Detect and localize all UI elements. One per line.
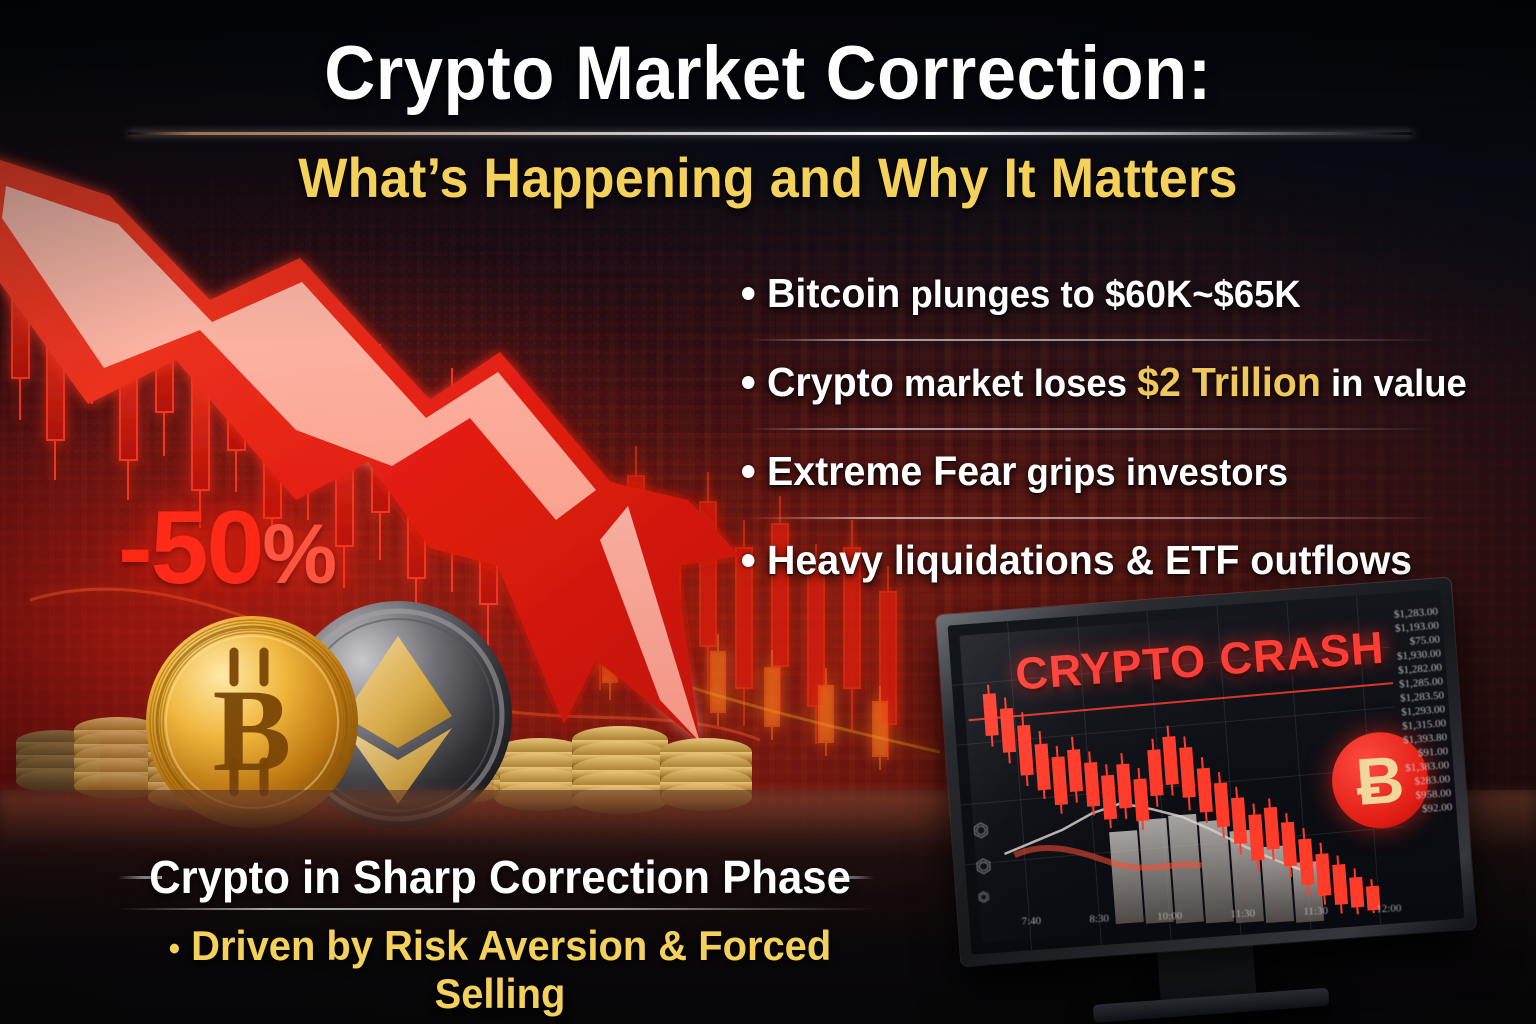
page-title: Crypto Market Correction: (54, 30, 1482, 117)
bullet-3-lead: Extreme Fear (767, 448, 1016, 494)
time-label: 12:00 (1376, 902, 1401, 915)
chart-tool-icon[interactable]: ⏣ (972, 819, 990, 842)
price-label: $1,282.00 (1398, 661, 1443, 676)
footer-headline: Crypto in Sharp Correction Phase (139, 850, 861, 904)
bullet-3-rest: grips investors (1016, 452, 1288, 494)
percent-value: 50 (151, 490, 263, 606)
title-divider (128, 132, 1413, 135)
price-label: $1,283.00 (1394, 606, 1439, 621)
bullet-row-3: Extreme Fear grips investors (742, 448, 1288, 495)
list-item: Bitcoin plunges to $60K~$65K (742, 250, 1442, 339)
price-label: $1,315.00 (1402, 717, 1447, 732)
trading-monitor: CRYPTO CRASH Ƀ ⏣ ⏣ ⏣ $1,283.00$1,193.00$… (936, 578, 1476, 967)
price-label: $1,285.00 (1399, 675, 1444, 690)
footer-bullet-dot-icon: • (169, 930, 180, 968)
bullet-row-1: Bitcoin plunges to $60K~$65K (742, 270, 1301, 317)
price-label: $958.00 (1415, 787, 1452, 802)
price-label: $1,293.00 (1401, 703, 1446, 718)
time-label: 8:30 (1089, 913, 1109, 926)
time-label: 10:00 (1157, 910, 1182, 923)
bullet-2-rest: market loses (894, 363, 1137, 405)
footer-bullet: • Driven by Risk Aversion & Forced Selli… (139, 922, 861, 1018)
percent-unit: % (262, 507, 335, 601)
footer-bullet-text: Driven by Risk Aversion & Forced Selling (191, 922, 831, 1017)
time-label: 11:30 (1230, 907, 1255, 920)
key-points-list: Bitcoin plunges to $60K~$65K Crypto mark… (742, 250, 1442, 606)
bullet-divider (748, 339, 1438, 341)
price-label: $1,383.00 (1405, 759, 1450, 774)
bullet-divider (748, 517, 1438, 519)
time-label: 11:30 (1303, 905, 1328, 918)
price-label: $283.00 (1414, 773, 1451, 788)
list-item: Crypto market loses $2 Trillion in value (742, 339, 1442, 428)
price-label: $1,193.00 (1395, 620, 1440, 635)
bullet-1-lead: Bitcoin (767, 270, 900, 316)
price-label: $75.00 (1409, 634, 1440, 648)
chart-tool-icon[interactable]: ⏣ (975, 855, 993, 878)
price-label: $1,930.00 (1397, 647, 1442, 662)
percent-drop-callout: -50% (118, 489, 335, 608)
bullet-dot-icon (742, 554, 754, 567)
bullet-4-lead: Heavy liquidations & ETF outflows (767, 537, 1412, 583)
infographic-stage: B Crypto Market Correction: What’s Happe… (0, 0, 1536, 1024)
bullet-dot-icon (742, 465, 754, 478)
price-label: $91.00 (1418, 745, 1449, 759)
price-label: $1,393.80 (1403, 731, 1448, 746)
bullet-1-rest: plunges to $60K~$65K (900, 274, 1300, 316)
bullet-row-4: Heavy liquidations & ETF outflows (742, 537, 1412, 584)
bullet-2-tail: in value (1321, 363, 1467, 405)
list-item: Extreme Fear grips investors (742, 428, 1442, 517)
bullet-divider (748, 428, 1438, 430)
price-label: $92.00 (1422, 801, 1453, 815)
price-label: $1,283.50 (1400, 689, 1445, 704)
footer-divider (118, 908, 878, 910)
time-label: 7:40 (1021, 915, 1041, 928)
monitor-screen: CRYPTO CRASH Ƀ ⏣ ⏣ ⏣ $1,283.00$1,193.00$… (948, 589, 1465, 954)
percent-sign: - (118, 490, 151, 606)
page-subtitle: What’s Happening and Why It Matters (54, 145, 1482, 210)
bullet-2-lead: Crypto (767, 359, 894, 405)
chart-tool-icon[interactable]: ⏣ (977, 889, 990, 906)
bullet-dot-icon (742, 287, 754, 300)
price-axis-labels: $1,283.00$1,193.00$75.00$1,930.00$1,282.… (1354, 606, 1453, 820)
bullet-dot-icon (742, 376, 754, 389)
bullet-row-2: Crypto market loses $2 Trillion in value (742, 359, 1467, 406)
bullet-2-highlight: $2 Trillion (1137, 359, 1321, 405)
